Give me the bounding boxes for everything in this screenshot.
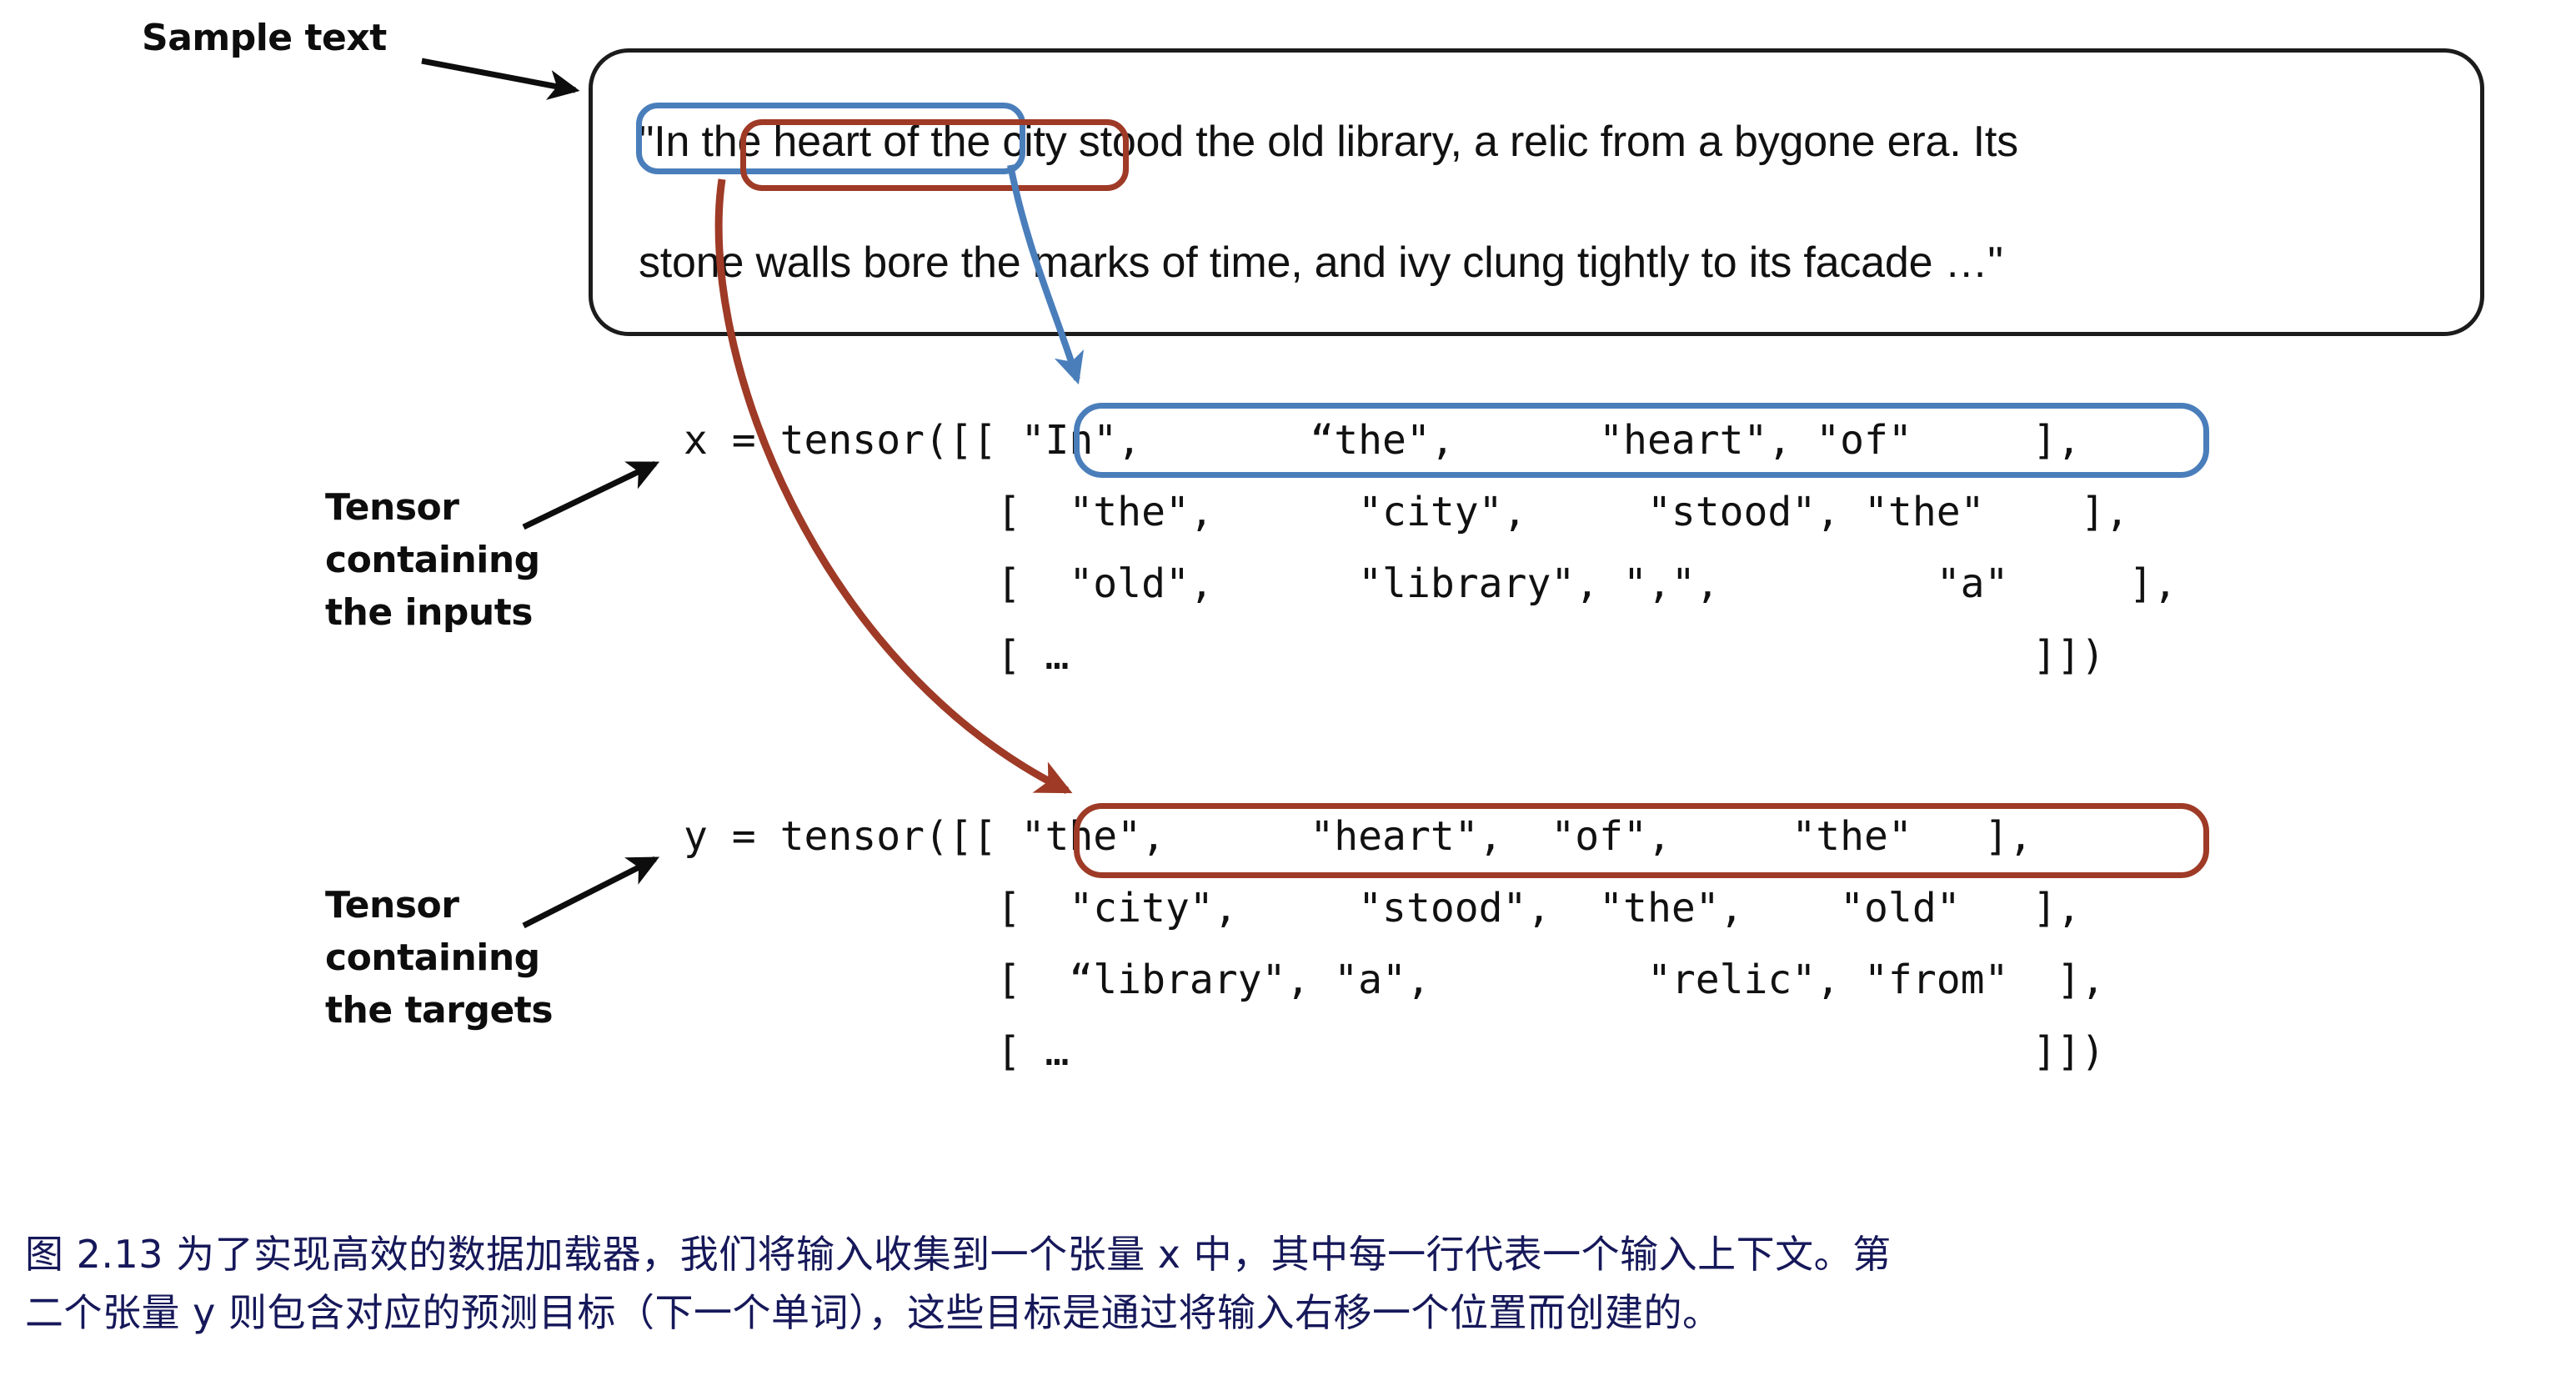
annotation-inputs-line-2: containing [325,535,540,587]
y-tensor-line-2: [ "city", "stood", "the", "old" ], [684,885,2081,932]
caption-line-2: 二个张量 y 则包含对应的预测目标（下一个单词），这些目标是通过将输入右移一个位… [25,1284,2551,1343]
y-tensor-line-3: [ “library", "a", "relic", "from" ], [684,957,2105,1003]
x-tensor-line-1: x = tensor([[ "In", “the", "heart", "of"… [684,417,2081,464]
x-tensor-line-2: [ "the", "city", "stood", "the" ], [684,489,2129,535]
caption-line-1: 图 2.13 为了实现高效的数据加载器，我们将输入收集到一个张量 x 中，其中每… [25,1226,2551,1284]
annotation-targets-line-3: the targets [325,985,553,1037]
annotation-inputs-line-3: the inputs [325,587,540,640]
y-tensor-line-1: y = tensor([[ "the", "heart", "of", "the… [684,813,2032,860]
annotation-inputs-line-1: Tensor [325,482,540,535]
x-tensor-line-4: [ … ]]) [684,632,2105,679]
figure-caption: 图 2.13 为了实现高效的数据加载器，我们将输入收集到一个张量 x 中，其中每… [25,1226,2551,1343]
annotation-inputs-label: Tensor containing the inputs [325,482,540,640]
annotation-targets-line-1: Tensor [325,880,553,932]
sample-text-line-1: "In the heart of the city stood the old … [639,117,2018,167]
sample-text-box [589,48,2484,336]
annotation-targets-label: Tensor containing the targets [325,880,553,1037]
y-tensor-line-4: [ … ]]) [684,1028,2105,1075]
annotation-sample-text-label: Sample text [142,20,387,57]
arrow-sample-text [422,61,575,90]
x-tensor-line-3: [ "old", "library", ",", "a" ], [684,560,2178,607]
x-tensor-code: x = tensor([[ "In", “the", "heart", "of"… [684,404,2178,691]
sample-text-line-2: stone walls bore the marks of time, and … [639,238,2003,288]
arrow-inputs [524,464,655,527]
y-tensor-code: y = tensor([[ "the", "heart", "of", "the… [684,801,2105,1087]
annotation-targets-line-2: containing [325,932,553,985]
